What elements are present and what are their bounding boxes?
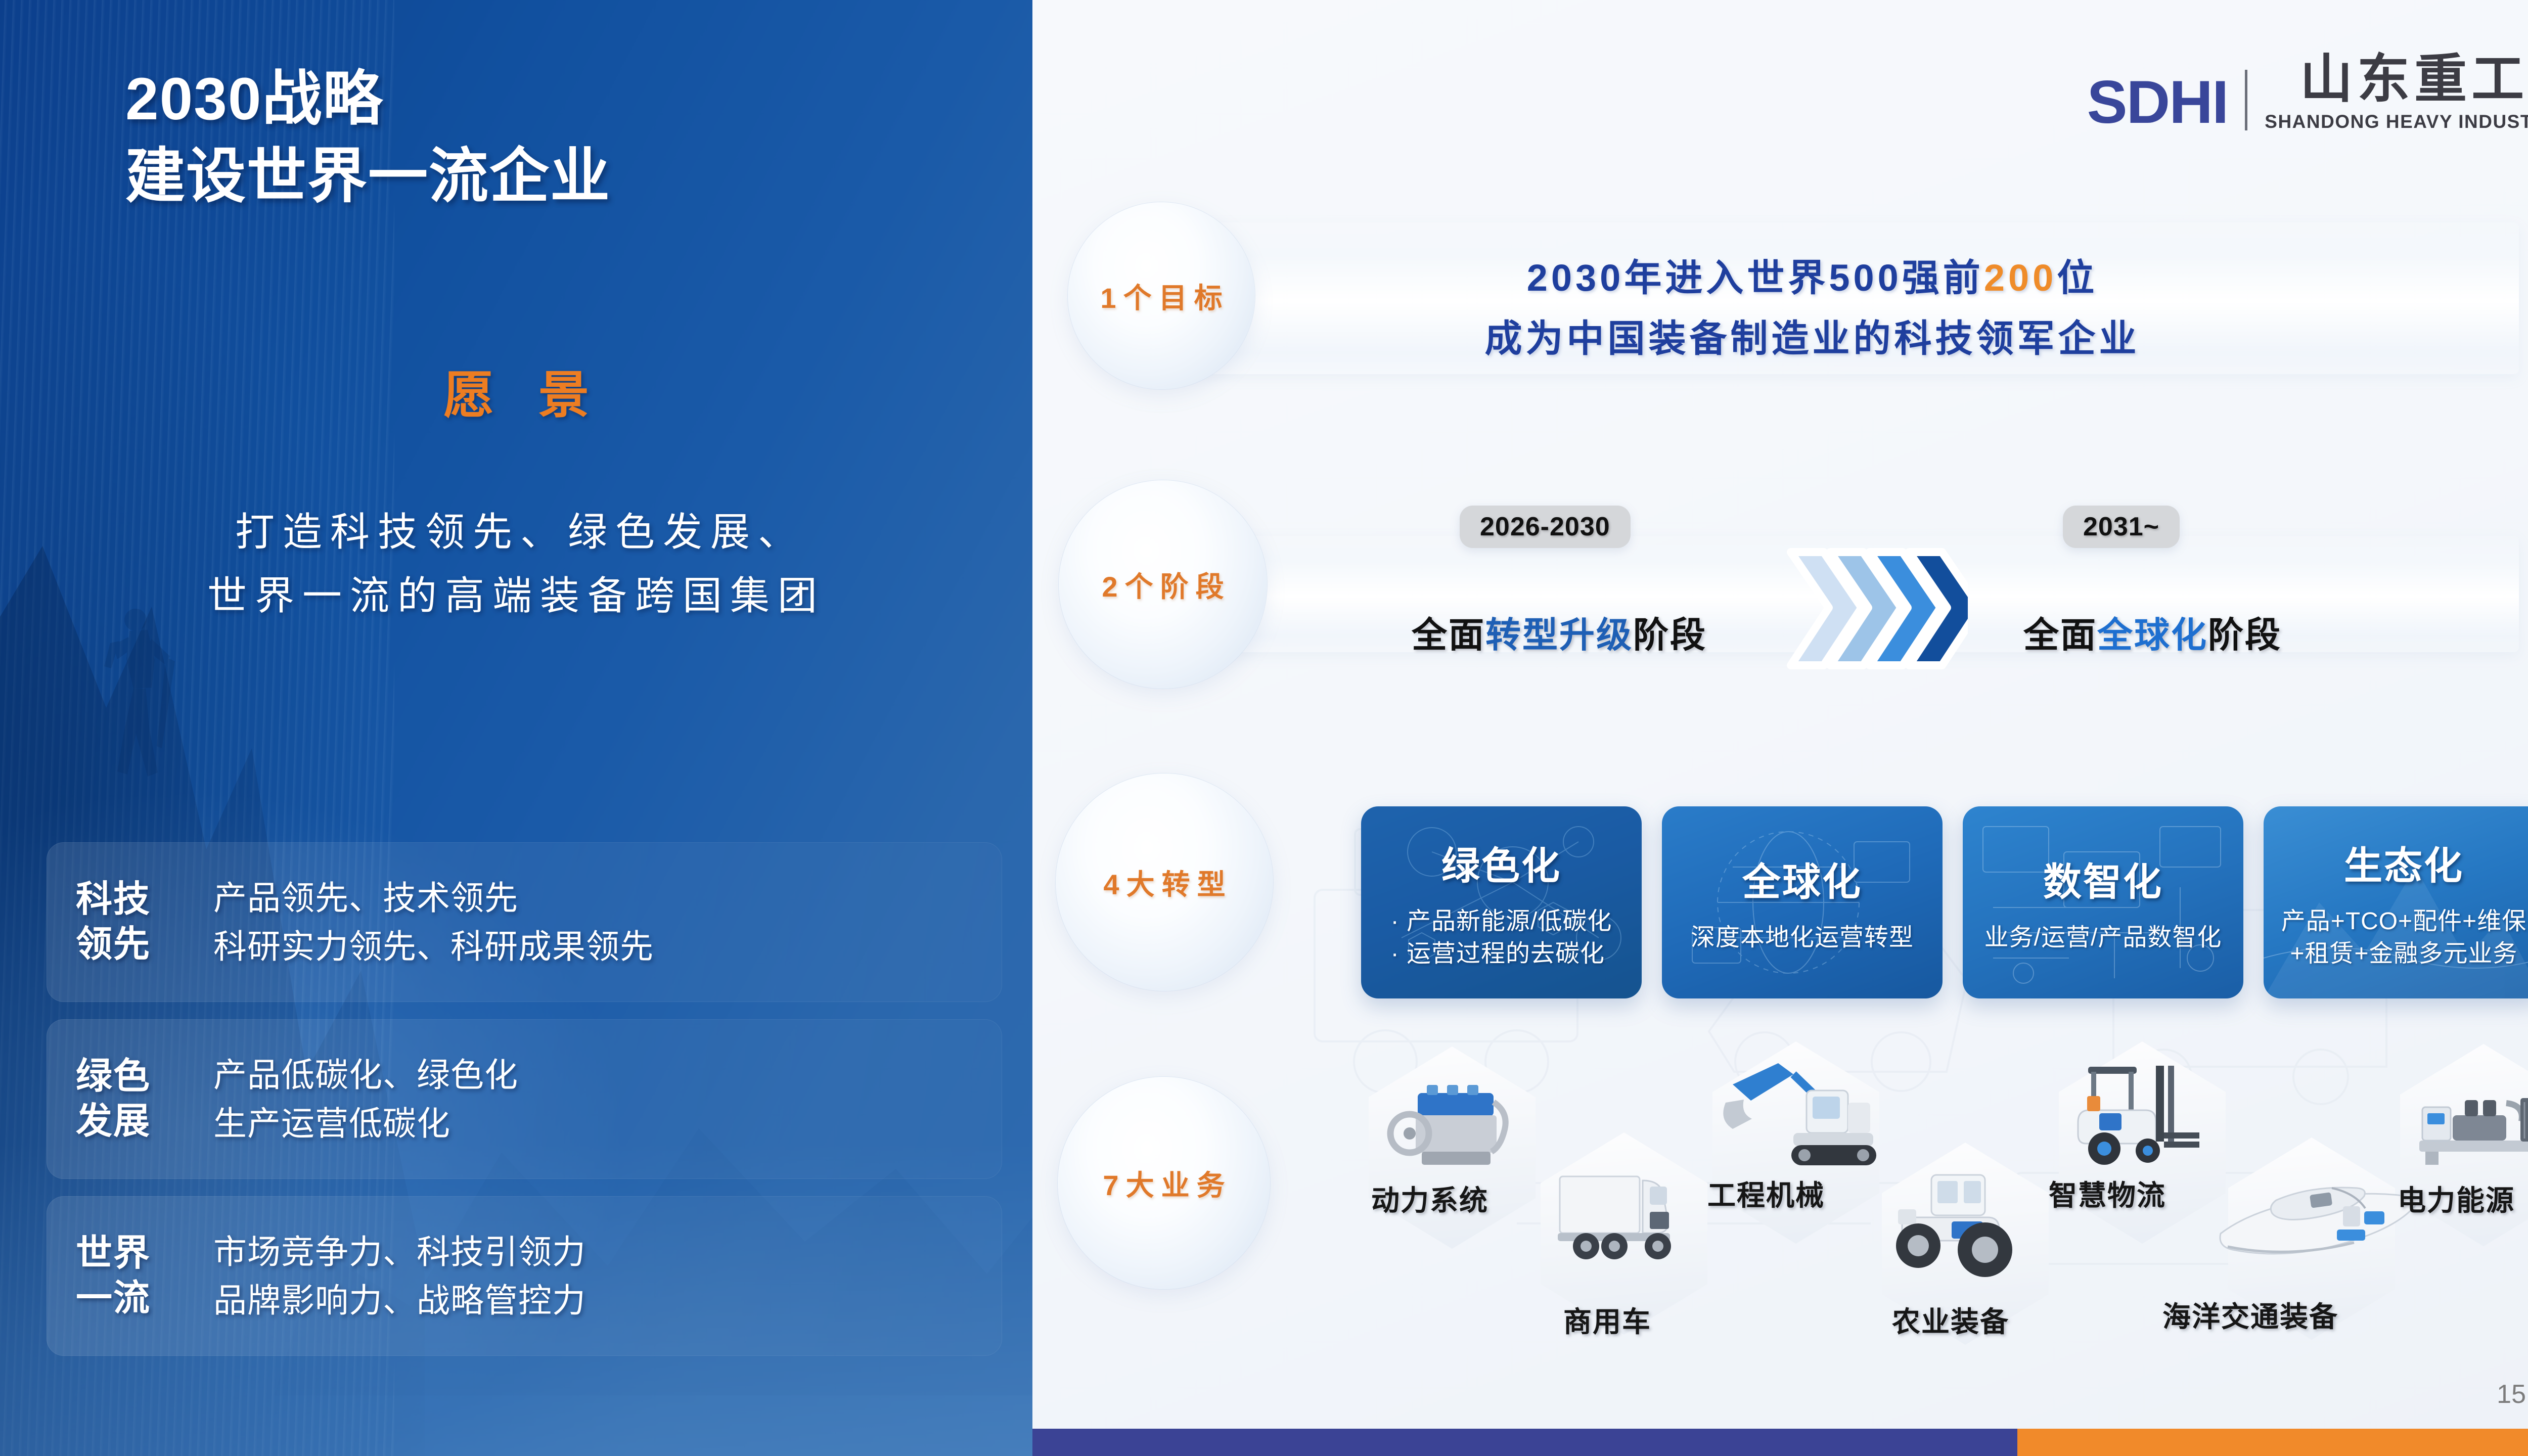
climber-silhouette-icon	[81, 597, 212, 809]
transformation-card-digital[interactable]: 数智化 业务/运营/产品数智化	[1963, 806, 2243, 998]
goal-line-1-suffix: 位	[2057, 257, 2098, 299]
goal-line-1-highlight: 200	[1984, 257, 2057, 299]
logo-wordmark: SDHI	[2087, 72, 2228, 132]
vision-statement: 打造科技领先、绿色发展、 世界一流的高端装备跨国集团	[0, 500, 1032, 628]
business-label-marine: 海洋交通装备	[2162, 1294, 2338, 1335]
pillar-value: 市场竞争力、科技引领力 品牌影响力、战略管控力	[213, 1227, 586, 1325]
transformation-card-global[interactable]: 全球化 深度本地化运营转型	[1662, 806, 1943, 998]
goal-text: 2030年进入世界500强前200位 成为中国装备制造业的科技领军企业	[1032, 248, 2528, 369]
card-title: 数智化	[2043, 851, 2163, 906]
stage-2-suffix: 阶段	[2208, 615, 2282, 655]
card-description: 产品+TCO+配件+维保 +租赁+金融多元业务	[2281, 905, 2526, 971]
business-label-logistics: 智慧物流	[2049, 1173, 2166, 1214]
logo-chinese-block: 山东重工 SHANDONG HEAVY INDUSTRY	[2265, 53, 2528, 132]
stage-year-chip-2: 2031~	[2063, 506, 2180, 548]
stage-year-chip-1: 2026-2030	[1460, 506, 1631, 548]
card-description: · 产品新能源/低碳化 · 运营过程的去碳化	[1391, 905, 1612, 971]
stage-2-highlight: 全球化	[2097, 615, 2208, 655]
card-title: 生态化	[2344, 835, 2464, 890]
pillar-value: 产品领先、技术领先 科研实力领先、科研成果领先	[213, 874, 654, 971]
card-description: 业务/运营/产品数智化	[1984, 922, 2222, 954]
slide-root: 2030战略 建设世界一流企业 愿 景 打造科技领先、绿色发展、 世界一流的高端…	[0, 0, 2528, 1456]
business-label-commercial-vehicle: 商用车	[1563, 1299, 1651, 1340]
yacht-icon	[2210, 1158, 2423, 1279]
pillar-key: 世界 一流	[47, 1231, 213, 1322]
business-label-powertrain: 动力系统	[1371, 1178, 1488, 1219]
engine-icon	[1386, 1067, 1518, 1178]
pillar-item-green: 绿色 发展 产品低碳化、绿色化 生产运营低碳化	[47, 1019, 1002, 1179]
stage-arrow-chevrons-icon	[1786, 546, 1968, 672]
truck-icon	[1551, 1155, 1702, 1271]
business-label-agriculture: 农业装备	[1892, 1299, 2009, 1340]
goal-line-2: 成为中国装备制造业的科技领军企业	[1032, 308, 2528, 369]
right-panel: SDHI 山东重工 SHANDONG HEAVY INDUSTRY 1个目标 2…	[1032, 0, 2528, 1456]
card-inner: 绿色化 · 产品新能源/低碳化 · 运营过程的去碳化	[1361, 806, 1642, 998]
business-label-construction-machinery: 工程机械	[1707, 1173, 1825, 1214]
card-inner: 全球化 深度本地化运营转型	[1662, 806, 1943, 998]
transformation-card-green[interactable]: 绿色化 · 产品新能源/低碳化 · 运营过程的去碳化	[1361, 806, 1642, 998]
logo-english-name: SHANDONG HEAVY INDUSTRY	[2265, 111, 2528, 132]
footer-bar-navy	[1032, 1429, 2017, 1456]
stage-1-highlight: 转型升级	[1485, 615, 1633, 655]
goal-line-1: 2030年进入世界500强前200位	[1032, 248, 2528, 308]
stage-label-1: 全面转型升级阶段	[1412, 607, 1707, 658]
bubble-stages: 2个阶段	[1059, 480, 1267, 689]
footer-bar-orange	[2017, 1429, 2528, 1456]
card-inner: 数智化 业务/运营/产品数智化	[1963, 806, 2243, 998]
company-logo: SDHI 山东重工 SHANDONG HEAVY INDUSTRY	[2087, 53, 2528, 132]
vision-label: 愿 景	[0, 354, 1032, 427]
pillar-item-tech: 科技 领先 产品领先、技术领先 科研实力领先、科研成果领先	[47, 842, 1002, 1002]
pillar-key: 绿色 发展	[47, 1054, 213, 1145]
bubble-businesses: 7大业务	[1058, 1077, 1270, 1289]
card-title: 全球化	[1742, 851, 1862, 906]
tractor-icon	[1887, 1163, 2044, 1279]
excavator-icon	[1718, 1054, 1879, 1175]
bubble-transformations: 4大转型	[1056, 773, 1273, 991]
goal-line-1-prefix: 2030年进入世界500强前	[1527, 257, 1984, 299]
stage-label-2: 全面全球化阶段	[2023, 607, 2282, 658]
left-panel: 2030战略 建设世界一流企业 愿 景 打造科技领先、绿色发展、 世界一流的高端…	[0, 0, 1032, 1456]
business-label-power-energy: 电力能源	[2398, 1178, 2515, 1219]
stage-1-suffix: 阶段	[1633, 615, 1707, 655]
generator-icon	[2405, 1067, 2528, 1178]
logo-divider	[2245, 70, 2247, 130]
logo-chinese-name: 山东重工	[2295, 53, 2528, 106]
card-inner: 生态化 产品+TCO+配件+维保 +租赁+金融多元业务	[2264, 806, 2528, 998]
transformation-card-ecosystem[interactable]: 生态化 产品+TCO+配件+维保 +租赁+金融多元业务	[2264, 806, 2528, 998]
page-number: 15	[2497, 1379, 2526, 1409]
page-title: 2030战略 建设世界一流企业	[125, 61, 611, 216]
stage-1-prefix: 全面	[1412, 615, 1485, 655]
card-description: 深度本地化运营转型	[1691, 922, 1914, 954]
pillar-list: 科技 领先 产品领先、技术领先 科研实力领先、科研成果领先 绿色 发展 产品低碳…	[47, 842, 1002, 1373]
pillar-value: 产品低碳化、绿色化 生产运营低碳化	[213, 1051, 518, 1148]
pillar-key: 科技 领先	[47, 877, 213, 968]
pillar-item-worldclass: 世界 一流 市场竞争力、科技引领力 品牌影响力、战略管控力	[47, 1196, 1002, 1356]
forklift-icon	[2069, 1057, 2216, 1178]
stage-2-prefix: 全面	[2023, 615, 2097, 655]
card-title: 绿色化	[1441, 835, 1561, 890]
